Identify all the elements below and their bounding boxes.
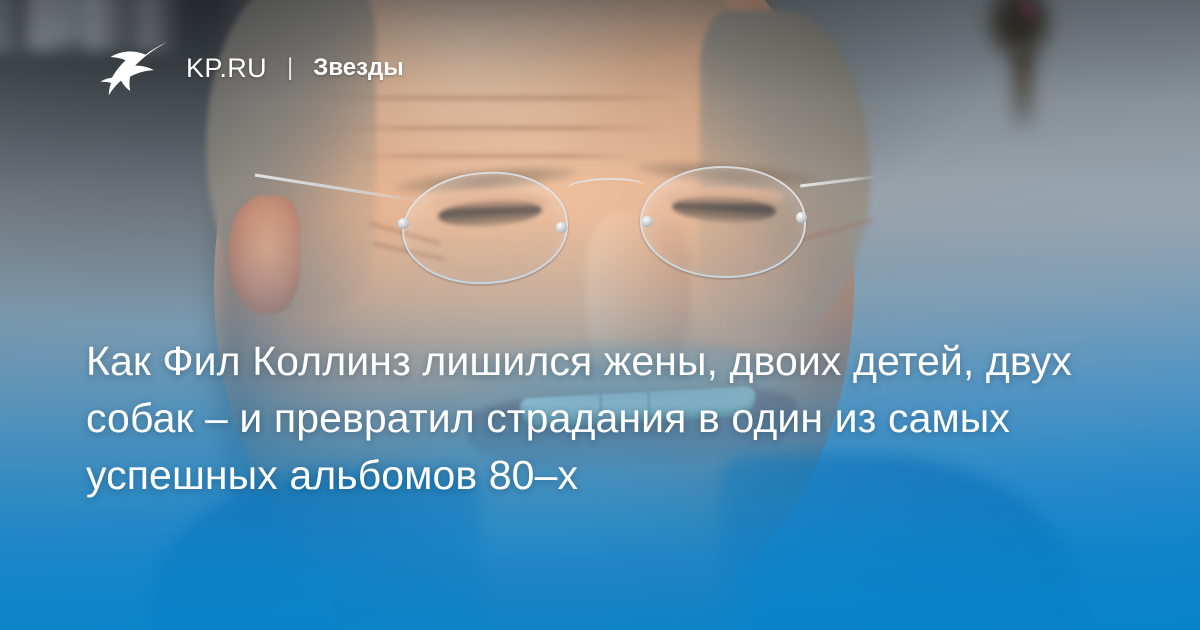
card-header: KP.RU | Звезды xyxy=(96,40,404,96)
rubric-label[interactable]: Звезды xyxy=(313,56,403,80)
swallow-bird-logo-icon[interactable] xyxy=(96,40,168,96)
social-share-card: KP.RU | Звезды Как Фил Коллинз лишился ж… xyxy=(0,0,1200,630)
header-separator: | xyxy=(287,56,293,80)
article-headline: Как Фил Коллинз лишился жены, двоих дете… xyxy=(86,333,1116,504)
brand-name[interactable]: KP.RU xyxy=(186,55,267,82)
